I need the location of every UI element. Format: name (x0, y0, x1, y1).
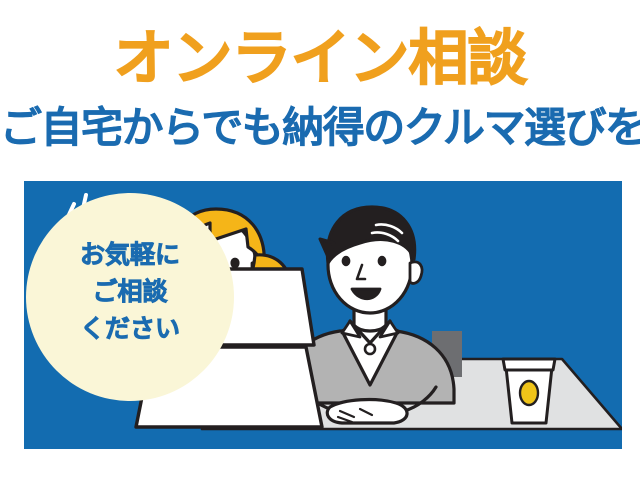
page-subtitle: ご自宅からでも納得のクルマ選びを (0, 104, 640, 152)
coffee-cup (503, 359, 555, 423)
cup-logo-icon (520, 381, 538, 405)
online-consultation-banner: オンライン相談 ご自宅からでも納得のクルマ選びを (0, 0, 640, 480)
page-title: オンライン相談 (0, 26, 640, 92)
badge-text: お気軽に ご相談 ください (26, 237, 234, 348)
badge-line-3: ください (26, 311, 234, 348)
illustration-panel: お気軽に ご相談 ください (24, 181, 622, 449)
badge-line-2: ご相談 (26, 274, 234, 311)
cup-lid (503, 359, 555, 370)
status-badge: お気軽に ご相談 ください (26, 193, 234, 401)
headline-area: オンライン相談 ご自宅からでも納得のクルマ選びを (0, 0, 640, 178)
badge-line-1: お気軽に (26, 237, 234, 274)
